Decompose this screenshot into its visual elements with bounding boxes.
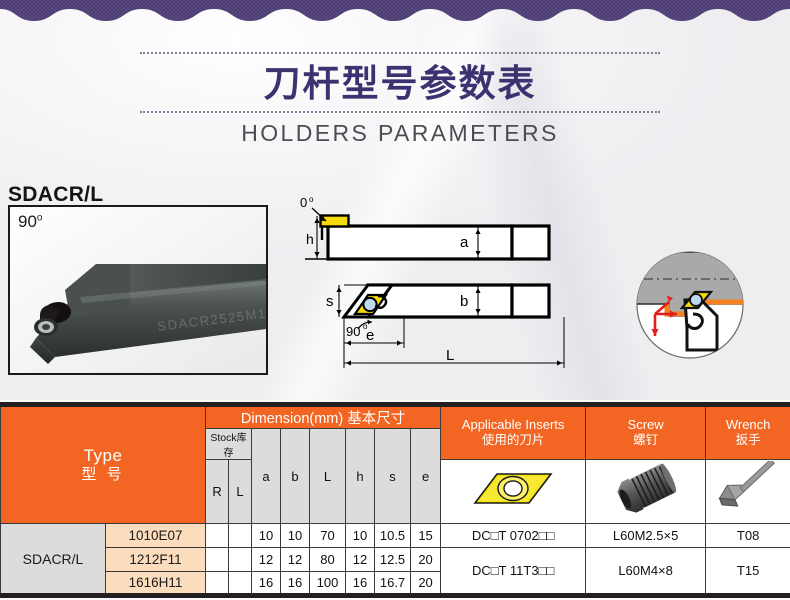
header-col-e: e [411, 429, 441, 524]
cell-stock-l[interactable] [229, 548, 252, 572]
machining-detail-circle [625, 242, 760, 387]
drawing-label-L: L [446, 347, 454, 364]
header-stock: Stock库存 [206, 429, 252, 460]
cell-a: 10 [252, 524, 281, 548]
drawing-label-a: a [460, 234, 469, 251]
header-col-a: a [252, 429, 281, 524]
cell-b: 12 [281, 548, 310, 572]
cell-stock-l[interactable] [229, 572, 252, 596]
cell-s: 16.7 [375, 572, 411, 596]
cell-b: 16 [281, 572, 310, 596]
cell-h: 16 [346, 572, 375, 596]
cell-a: 12 [252, 548, 281, 572]
cell-code[interactable]: 1010E07 [106, 524, 206, 548]
header-col-h: h [346, 429, 375, 524]
photo-angle-value: 90 [18, 212, 37, 231]
cell-insert: DC□T 0702□□ [441, 524, 586, 548]
product-model-heading: SDACR/L [8, 183, 103, 207]
cell-stock-r[interactable] [206, 524, 229, 548]
specification-table: Type 型 号 Dimension(mm) 基本尺寸 Applicable I… [0, 402, 790, 598]
header-stock-r: R [206, 460, 229, 524]
screw-picture-cell [586, 460, 706, 524]
wrench-picture-cell [706, 460, 790, 524]
cell-insert: DC□T 11T3□□ [441, 548, 586, 596]
machining-detail-svg [625, 242, 760, 382]
header-stock-l: L [229, 460, 252, 524]
specification-table-wrapper: Type 型 号 Dimension(mm) 基本尺寸 Applicable I… [0, 402, 790, 598]
header-stock-en: Stock [210, 432, 236, 444]
cell-stock-l[interactable] [229, 524, 252, 548]
drawing-label-rake-angle: 0 [300, 196, 307, 210]
header-col-b: b [281, 429, 310, 524]
page-title-cn: 刀杆型号参数表 [140, 54, 660, 111]
cell-h: 10 [346, 524, 375, 548]
holder-drawing-svg: 0 o h a s [300, 196, 585, 381]
photo-angle-label: 90o [18, 212, 42, 232]
title-rule-bottom [140, 111, 660, 113]
header-wrench-cn: 扳手 [706, 433, 790, 448]
header-wrench: Wrench 扳手 [706, 405, 790, 460]
drawing-label-e: e [366, 327, 374, 344]
table-row[interactable]: 1212F11 12 12 80 12 12.5 20 DC□T 11T3□□ … [1, 548, 790, 572]
cell-wrench: T15 [706, 548, 790, 596]
header-dimension-label: Dimension(mm) 基本尺寸 [241, 411, 405, 427]
header-inserts-en: Applicable Inserts [441, 418, 585, 433]
header-type-en: Type [1, 446, 205, 466]
cell-code[interactable]: 1212F11 [106, 548, 206, 572]
cell-L: 100 [310, 572, 346, 596]
page-title-en: HOLDERS PARAMETERS [140, 113, 660, 147]
header-type-cn: 型 号 [1, 466, 205, 484]
insert-picture-cell [441, 460, 586, 524]
header-applicable-inserts: Applicable Inserts 使用的刀片 [441, 405, 586, 460]
rhombic-insert-icon [467, 461, 559, 517]
tool-holder-photo: SDACR2525M12 [10, 207, 266, 373]
top-scallop-decoration [0, 0, 790, 22]
drawing-label-h: h [306, 231, 314, 247]
drawing-label-b: b [460, 293, 468, 310]
cell-screw: L60M2.5×5 [586, 524, 706, 548]
cell-stock-r[interactable] [206, 548, 229, 572]
technical-drawing-views: 0 o h a s [300, 196, 585, 386]
cell-s: 10.5 [375, 524, 411, 548]
torx-screw-icon [605, 461, 687, 517]
cell-b: 10 [281, 524, 310, 548]
header-wrench-en: Wrench [706, 418, 790, 433]
header-screw-cn: 螺钉 [586, 433, 705, 448]
scallop-svg [0, 0, 790, 22]
cell-wrench: T08 [706, 524, 790, 548]
header-col-s: s [375, 429, 411, 524]
header-col-L: L [310, 429, 346, 524]
cell-L: 70 [310, 524, 346, 548]
cell-e: 20 [411, 548, 441, 572]
cell-screw: L60M4×8 [586, 548, 706, 596]
cell-type-group: SDACR/L [1, 524, 106, 596]
torx-wrench-icon [710, 461, 786, 517]
table-row[interactable]: SDACR/L 1010E07 10 10 70 10 10.5 15 DC□T… [1, 524, 790, 548]
table-header-row-primary: Type 型 号 Dimension(mm) 基本尺寸 Applicable I… [1, 405, 790, 429]
cell-s: 12.5 [375, 548, 411, 572]
drawing-label-rake-angle-unit: o [309, 196, 314, 204]
header-dimension: Dimension(mm) 基本尺寸 [206, 405, 441, 429]
drawing-label-corner-angle: 90 [346, 324, 360, 339]
title-rule-top [140, 52, 660, 54]
header-screw-en: Screw [586, 418, 705, 433]
cell-h: 12 [346, 548, 375, 572]
cell-a: 16 [252, 572, 281, 596]
cell-stock-r[interactable] [206, 572, 229, 596]
header-screw: Screw 螺钉 [586, 405, 706, 460]
cell-code[interactable]: 1616H11 [106, 572, 206, 596]
product-photo-frame: 90o [8, 205, 268, 375]
drawing-label-s: s [326, 293, 334, 310]
cell-e: 15 [411, 524, 441, 548]
degree-symbol-icon: o [37, 212, 43, 223]
cell-L: 80 [310, 548, 346, 572]
header-inserts-cn: 使用的刀片 [441, 433, 585, 448]
cell-e: 20 [411, 572, 441, 596]
header-type: Type 型 号 [1, 405, 206, 524]
page-title-block: 刀杆型号参数表 HOLDERS PARAMETERS [140, 52, 660, 147]
